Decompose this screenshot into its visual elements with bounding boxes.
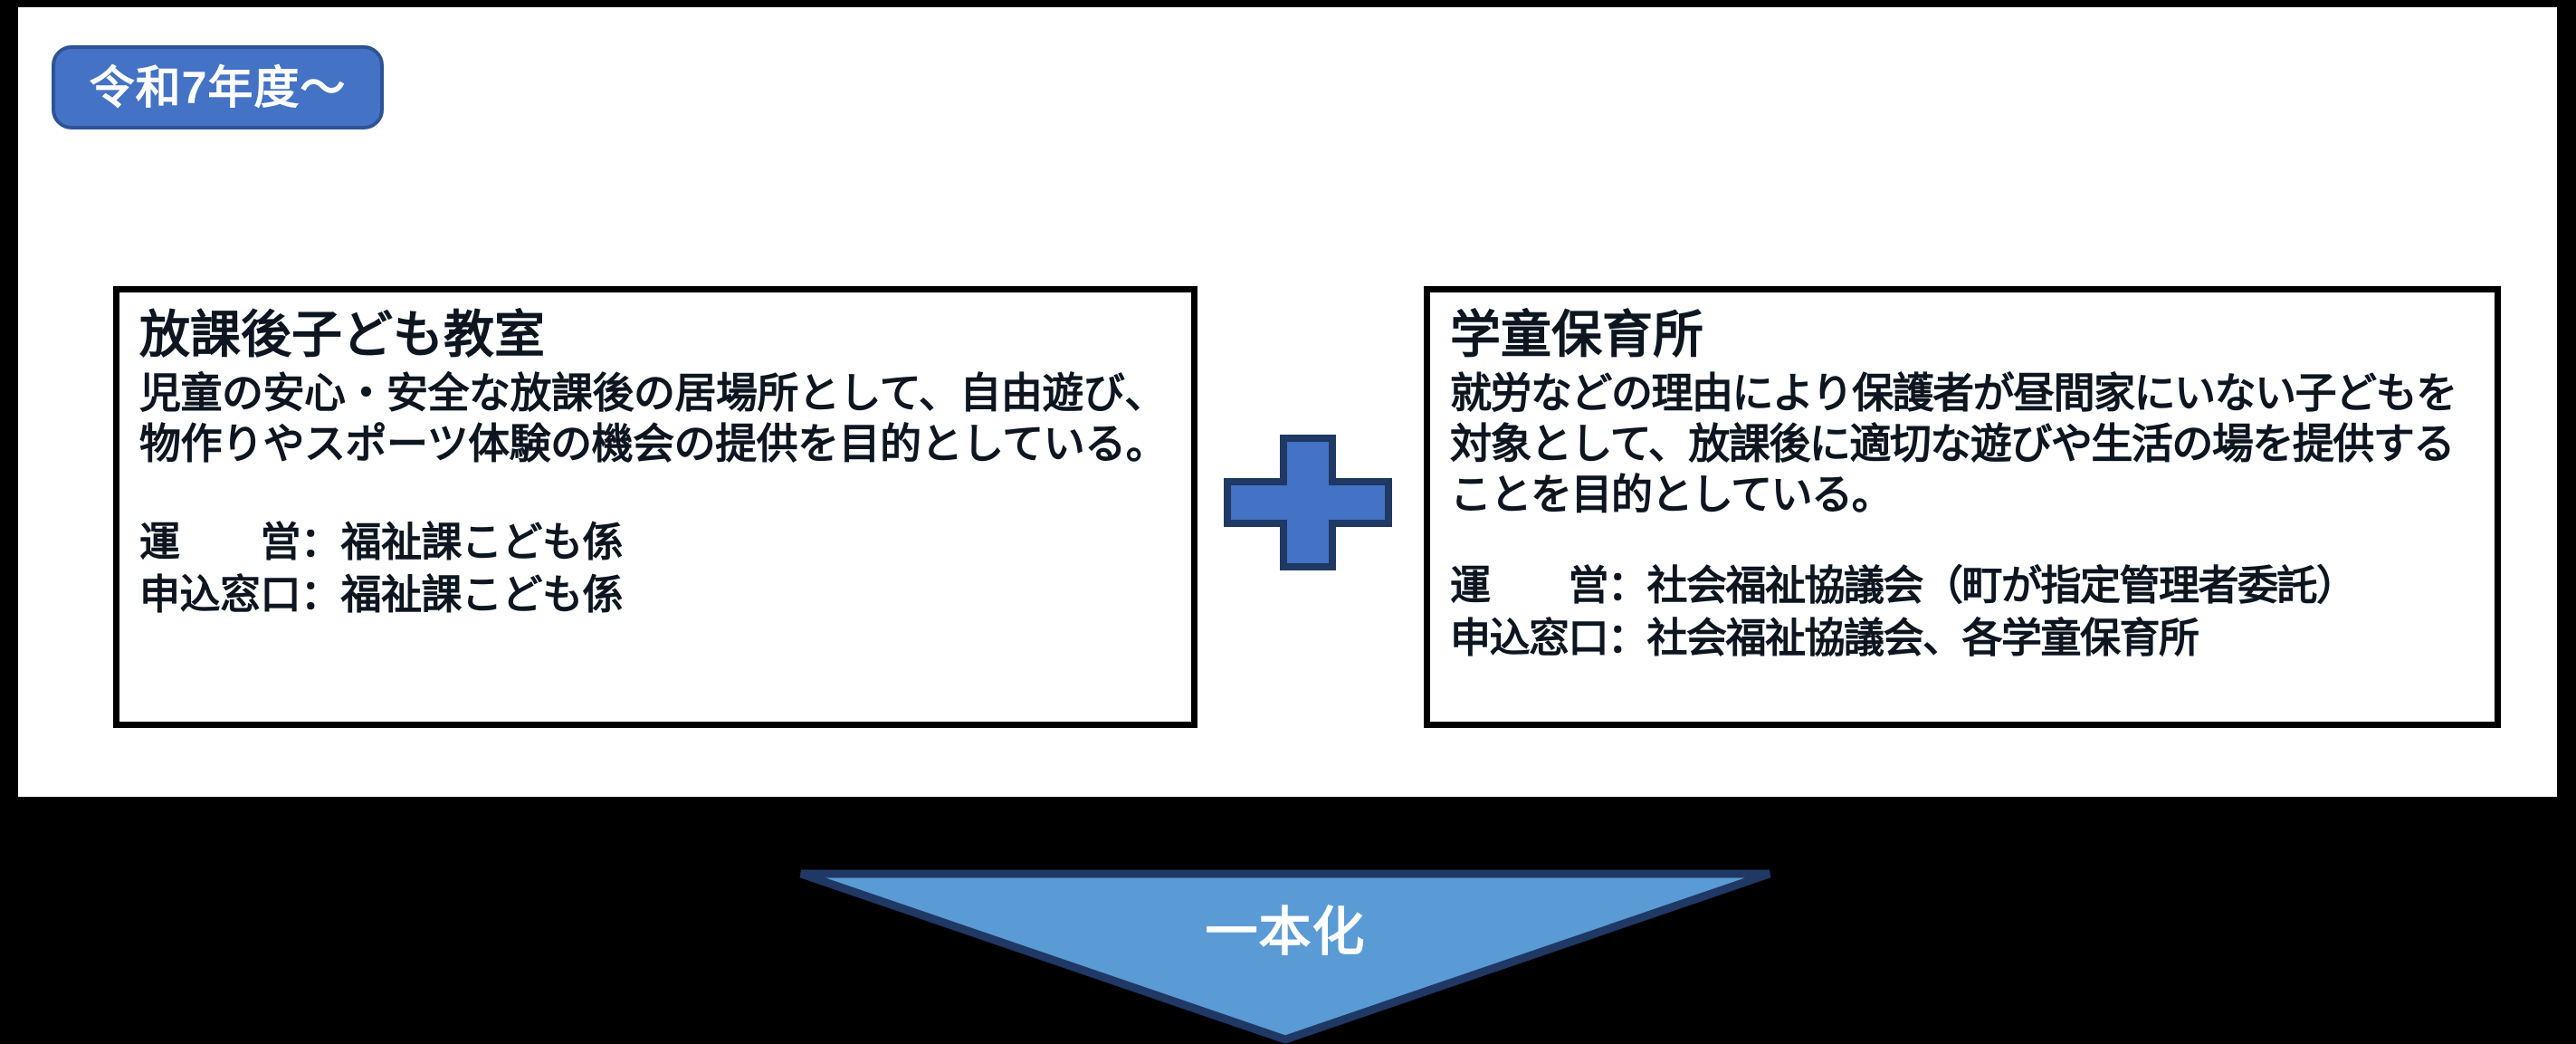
program-title: 学童保育所 — [1450, 307, 2475, 364]
program-meta-application-desk: 申込窓口：福祉課こども係 — [139, 569, 1171, 621]
program-description: 就労などの理由により保護者が昼間家にいない子どもを対象として、放課後に適切な遊び… — [1450, 368, 2475, 520]
program-description: 児童の安心・安全な放課後の居場所として、自由遊び、物作りやスポーツ体験の機会の提… — [139, 368, 1171, 469]
plus-icon — [1224, 435, 1392, 570]
program-box-gakudo-nursery: 学童保育所 就労などの理由により保護者が昼間家にいない子どもを対象として、放課後… — [1424, 286, 2501, 728]
era-badge: 令和7年度～ — [52, 45, 384, 129]
program-meta-operator: 運 営：福祉課こども係 — [139, 516, 1171, 569]
program-box-afterschool-classroom: 放課後子ども教室 児童の安心・安全な放課後の居場所として、自由遊び、物作りやスポ… — [113, 286, 1197, 728]
down-triangle-arrow-icon — [797, 869, 1774, 1044]
program-meta-list: 運 営：福祉課こども係 申込窓口：福祉課こども係 — [139, 516, 1171, 620]
era-badge-label: 令和7年度～ — [90, 65, 347, 110]
program-meta-list: 運 営：社会福祉協議会（町が指定管理者委託） 申込窓口：社会福祉協議会、各学童保… — [1450, 560, 2475, 664]
content-panel: 令和7年度～ 放課後子ども教室 児童の安心・安全な放課後の居場所として、自由遊び… — [18, 7, 2557, 797]
program-title: 放課後子ども教室 — [139, 307, 1171, 364]
program-meta-operator: 運 営：社会福祉協議会（町が指定管理者委託） — [1450, 560, 2475, 612]
diagram-canvas: 令和7年度～ 放課後子ども教室 児童の安心・安全な放課後の居場所として、自由遊び… — [0, 0, 2576, 1044]
program-meta-application-desk: 申込窓口：社会福祉協議会、各学童保育所 — [1450, 612, 2475, 665]
